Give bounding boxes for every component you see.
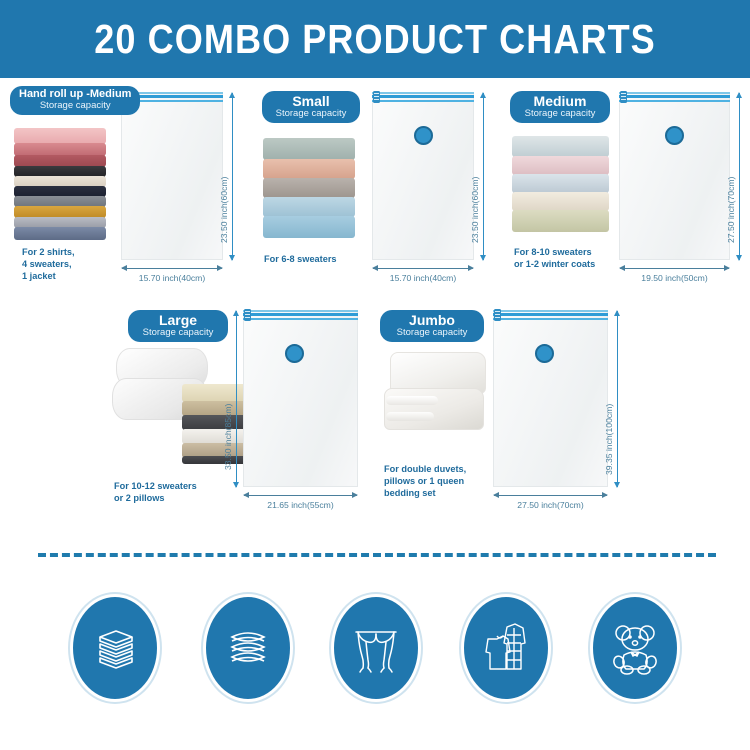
vacuum-bag-jumbo: [493, 310, 608, 487]
feature-circle: [334, 597, 418, 699]
bag-body: [372, 92, 474, 260]
width-dimension-label: 19.50 inch(50cm): [620, 273, 729, 283]
badge-title: Large: [137, 313, 219, 328]
caption-large: For 10-12 sweaters or 2 pillows: [114, 480, 264, 504]
vacuum-valve-icon: [665, 126, 684, 145]
badge-subtitle: Storage capacity: [19, 101, 131, 111]
clothes-layer: [14, 227, 106, 240]
clothes-layer: [14, 128, 106, 144]
vacuum-valve-icon: [285, 344, 304, 363]
product-panels: Hand roll up -Medium Storage capacity Fo…: [0, 78, 750, 528]
height-dimension-label: 27.50 inch(70cm): [726, 177, 736, 243]
height-dimension-label: 39.35 inch(100cm): [604, 404, 614, 475]
dashed-divider: [38, 553, 716, 557]
stacked-pillows-icon: [221, 621, 275, 675]
product-panel-small: Small Storage capacity For 6-8 sweaters …: [250, 78, 500, 293]
product-contents-image-blankets: [512, 136, 609, 232]
teddy-bear-icon: [606, 619, 664, 677]
zipper-line: [243, 318, 358, 321]
sweater-layer: [263, 138, 355, 160]
width-dimension-line: [494, 495, 607, 496]
width-dimension-line: [122, 268, 222, 269]
zipper-line: [243, 310, 358, 312]
badge-large: Large Storage capacity: [128, 310, 228, 342]
width-dimension-label: 27.50 inch(70cm): [494, 500, 607, 510]
bag-body: [619, 92, 730, 260]
bag-zipper: [619, 92, 730, 103]
zipper-line: [372, 92, 474, 94]
sweater-layer: [263, 216, 355, 238]
page-title: 20 COMBO PRODUCT CHARTS: [94, 16, 656, 63]
zipper-line: [493, 313, 608, 316]
product-contents-image-sweaters: [263, 138, 355, 238]
badge-subtitle: Storage capacity: [389, 328, 475, 338]
badge-title: Hand roll up -Medium: [19, 89, 131, 101]
badge-medium: Medium Storage capacity: [510, 91, 610, 123]
badge-title: Jumbo: [389, 313, 475, 328]
vacuum-bag-large: [243, 310, 358, 487]
duvet-layer: [384, 388, 484, 430]
feature-circle: [73, 597, 157, 699]
feature-item-clothing[interactable]: [459, 592, 553, 704]
blanket-layer: [512, 210, 609, 232]
bag-zipper: [493, 310, 608, 321]
folded-blankets-icon: [88, 621, 142, 675]
zipper-line: [243, 313, 358, 316]
width-dimension-label: 15.70 inch(40cm): [373, 273, 473, 283]
zipper-slider-icon: [373, 91, 380, 103]
zipper-line: [372, 95, 474, 98]
badge-small: Small Storage capacity: [262, 91, 360, 123]
badge-hand-roll-up-medium: Hand roll up -Medium Storage capacity: [10, 86, 140, 115]
feature-item-pillows[interactable]: [201, 592, 295, 704]
duvet-fold-edge: [386, 396, 438, 405]
product-panel-medium: Medium Storage capacity For 8-10 sweater…: [500, 78, 750, 293]
feature-item-toys[interactable]: [588, 592, 682, 704]
zipper-slider-icon: [494, 309, 501, 321]
coat-and-sweater-icon: [477, 619, 535, 677]
zipper-line: [493, 310, 608, 312]
product-panel-jumbo: Jumbo Storage capacity For double duvets…: [370, 300, 635, 520]
zipper-line: [619, 92, 730, 94]
vacuum-bag-hand-roll-up-medium: [121, 92, 223, 260]
width-dimension-label: 21.65 inch(55cm): [244, 500, 357, 510]
blanket-layer: [512, 192, 609, 211]
height-dimension-label: 33.50 inch(85cm): [223, 404, 233, 470]
sweater-layer: [263, 178, 355, 198]
feature-circle: [206, 597, 290, 699]
width-dimension-line: [373, 268, 473, 269]
badge-subtitle: Storage capacity: [519, 109, 601, 119]
zipper-slider-icon: [620, 91, 627, 103]
width-dimension-label: 15.70 inch(40cm): [122, 273, 222, 283]
height-dimension-line: [617, 311, 618, 487]
bag-zipper: [243, 310, 358, 321]
feature-circle: [464, 597, 548, 699]
zipper-line: [493, 318, 608, 321]
feature-circle: [593, 597, 677, 699]
badge-jumbo: Jumbo Storage capacity: [380, 310, 484, 342]
sweater-layer: [263, 159, 355, 179]
badge-subtitle: Storage capacity: [271, 109, 351, 119]
feature-item-blankets[interactable]: [68, 592, 162, 704]
feature-icon-row: [0, 592, 750, 712]
header-banner: 20 COMBO PRODUCT CHARTS: [0, 0, 750, 78]
product-panel-hand-roll-up-medium: Hand roll up -Medium Storage capacity Fo…: [0, 78, 250, 293]
blanket-layer: [512, 136, 609, 157]
badge-subtitle: Storage capacity: [137, 328, 219, 338]
badge-title: Small: [271, 94, 351, 109]
zipper-slider-icon: [244, 309, 251, 321]
product-contents-image-clothes: [14, 128, 106, 240]
vacuum-bag-medium: [619, 92, 730, 260]
bag-zipper: [372, 92, 474, 103]
bag-body: [121, 92, 223, 260]
sweater-layer: [263, 197, 355, 217]
feature-item-curtains[interactable]: [329, 592, 423, 704]
curtains-icon: [348, 620, 404, 676]
product-contents-image-duvet: [384, 352, 486, 430]
vacuum-bag-small: [372, 92, 474, 260]
height-dimension-line: [483, 93, 484, 260]
bag-body: [493, 310, 608, 487]
height-dimension-label: 23.50 inch(60cm): [470, 177, 480, 243]
height-dimension-line: [236, 311, 237, 487]
duvet-fold-edge: [386, 412, 434, 421]
width-dimension-line: [244, 495, 357, 496]
badge-title: Medium: [519, 94, 601, 109]
height-dimension-line: [739, 93, 740, 260]
height-dimension-label: 23.50 inch(60cm): [219, 177, 229, 243]
width-dimension-line: [620, 268, 729, 269]
zipper-line: [619, 95, 730, 98]
vacuum-valve-icon: [535, 344, 554, 363]
blanket-layer: [512, 156, 609, 175]
zipper-line: [619, 100, 730, 103]
vacuum-valve-icon: [414, 126, 433, 145]
blanket-layer: [512, 174, 609, 193]
bag-body: [243, 310, 358, 487]
zipper-line: [372, 100, 474, 103]
height-dimension-line: [232, 93, 233, 260]
product-panel-large: Large Storage capacity For 10-12 sweater…: [110, 300, 370, 520]
